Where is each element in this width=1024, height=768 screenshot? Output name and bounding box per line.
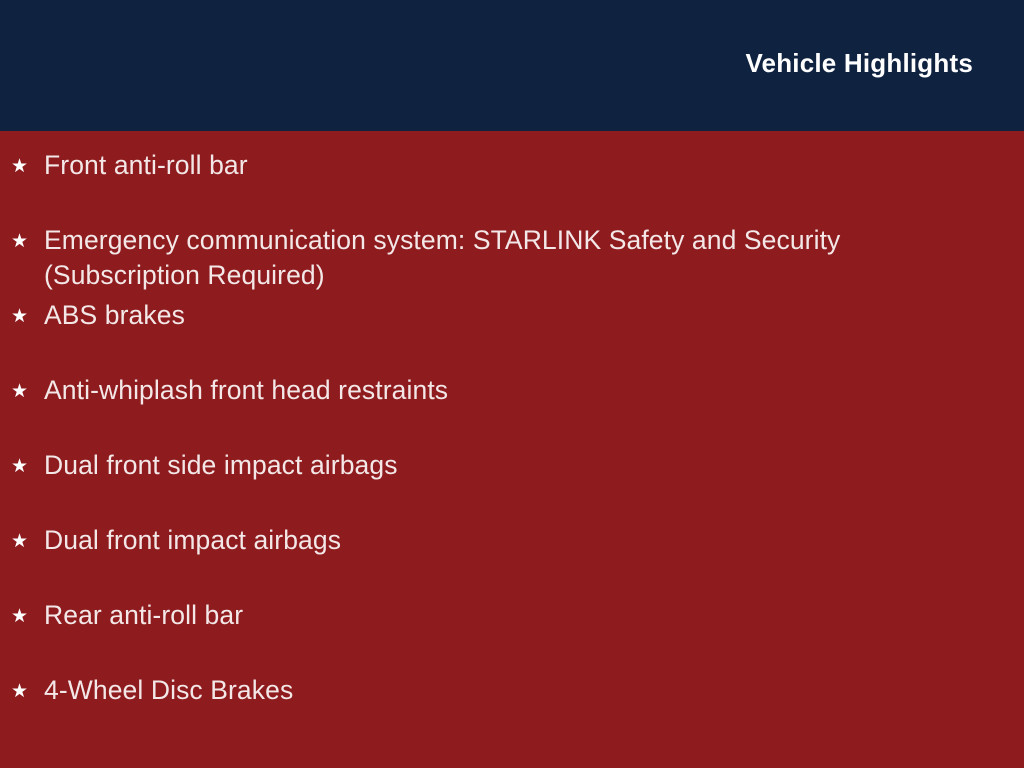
star-bullet-icon: ★ <box>11 148 44 184</box>
list-item-label: Dual front side impact airbags <box>44 448 984 483</box>
page-title: Vehicle Highlights <box>745 47 973 79</box>
vehicle-highlights-list: ★ Front anti-roll bar ★ Emergency commun… <box>0 148 1024 748</box>
star-bullet-icon: ★ <box>11 298 44 334</box>
list-item-label: Emergency communication system: STARLINK… <box>44 223 984 293</box>
list-item: ★ Dual front impact airbags <box>0 523 1024 598</box>
list-item: ★ ABS brakes <box>0 298 1024 373</box>
list-item: ★ Anti-whiplash front head restraints <box>0 373 1024 448</box>
list-item-label: Anti-whiplash front head restraints <box>44 373 984 408</box>
list-item: ★ 4-Wheel Disc Brakes <box>0 673 1024 748</box>
star-bullet-icon: ★ <box>11 373 44 409</box>
slide-body: ★ Front anti-roll bar ★ Emergency commun… <box>0 131 1024 768</box>
star-bullet-icon: ★ <box>11 523 44 559</box>
list-item: ★ Dual front side impact airbags <box>0 448 1024 523</box>
list-item-label: ABS brakes <box>44 298 984 333</box>
star-bullet-icon: ★ <box>11 223 44 259</box>
list-item-label: Front anti-roll bar <box>44 148 984 183</box>
star-bullet-icon: ★ <box>11 598 44 634</box>
star-bullet-icon: ★ <box>11 673 44 709</box>
slide-header: Vehicle Highlights <box>0 0 1024 131</box>
star-bullet-icon: ★ <box>11 448 44 484</box>
list-item-label: 4-Wheel Disc Brakes <box>44 673 984 708</box>
vehicle-highlights-slide: Vehicle Highlights ★ Front anti-roll bar… <box>0 0 1024 768</box>
list-item-label: Dual front impact airbags <box>44 523 984 558</box>
list-item: ★ Front anti-roll bar <box>0 148 1024 223</box>
list-item: ★ Emergency communication system: STARLI… <box>0 223 1024 298</box>
list-item: ★ Rear anti-roll bar <box>0 598 1024 673</box>
list-item-label: Rear anti-roll bar <box>44 598 984 633</box>
